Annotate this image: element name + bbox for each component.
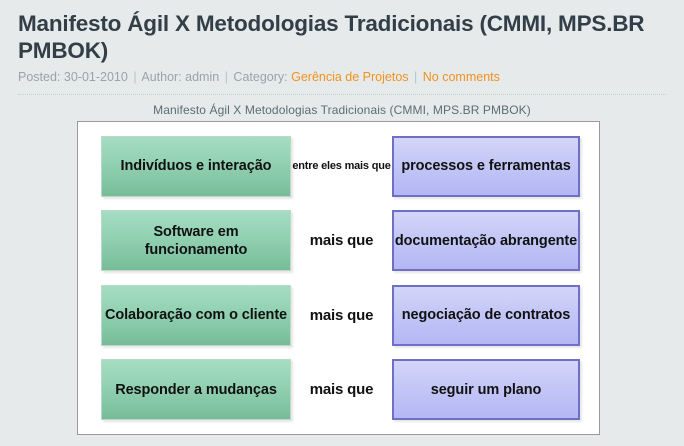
agile-value-box: Indivíduos e interação <box>101 136 291 197</box>
agile-value-box: Software em funcionamento <box>101 210 291 271</box>
manifesto-row: Responder a mudanças mais que seguir um … <box>91 357 586 423</box>
manifesto-diagram: Indivíduos e interação entre eles mais q… <box>77 121 600 435</box>
posted-label: Posted: <box>18 70 60 84</box>
category-link[interactable]: Gerência de Projetos <box>291 70 408 84</box>
agile-value-box: Responder a mudanças <box>101 359 291 420</box>
comparison-label: entre eles mais que <box>291 160 392 172</box>
meta-separator-2: | <box>223 70 230 84</box>
category-label: Category: <box>233 70 287 84</box>
comments-link[interactable]: No comments <box>423 70 500 84</box>
meta-separator-1: | <box>131 70 138 84</box>
traditional-value-box: seguir um plano <box>392 359 580 420</box>
figure-caption: Manifesto Ágil X Metodologias Tradiciona… <box>0 103 684 117</box>
manifesto-row: Indivíduos e interação entre eles mais q… <box>91 133 586 199</box>
traditional-value-box: documentação abrangente <box>392 210 580 271</box>
page-root: Manifesto Ágil X Metodologias Tradiciona… <box>0 0 684 446</box>
manifesto-row: Colaboração com o cliente mais que negoc… <box>91 282 586 348</box>
author-name: admin <box>185 70 219 84</box>
comparison-label: mais que <box>291 381 392 398</box>
post-header: Manifesto Ágil X Metodologias Tradiciona… <box>0 0 684 85</box>
comparison-label: mais que <box>291 232 392 249</box>
traditional-value-box: processos e ferramentas <box>392 136 580 197</box>
meta-divider <box>18 94 666 95</box>
posted-date: 30-01-2010 <box>64 70 128 84</box>
page-title: Manifesto Ágil X Metodologias Tradiciona… <box>18 10 666 64</box>
meta-separator-3: | <box>412 70 419 84</box>
agile-value-box: Colaboração com o cliente <box>101 285 291 346</box>
diagram-rows: Indivíduos e interação entre eles mais q… <box>78 122 599 434</box>
manifesto-row: Software em funcionamento mais que docum… <box>91 208 586 274</box>
author-label: Author: <box>141 70 181 84</box>
post-meta: Posted: 30-01-2010 | Author: admin | Cat… <box>18 69 666 85</box>
comparison-label: mais que <box>291 307 392 324</box>
traditional-value-box: negociação de contratos <box>392 285 580 346</box>
